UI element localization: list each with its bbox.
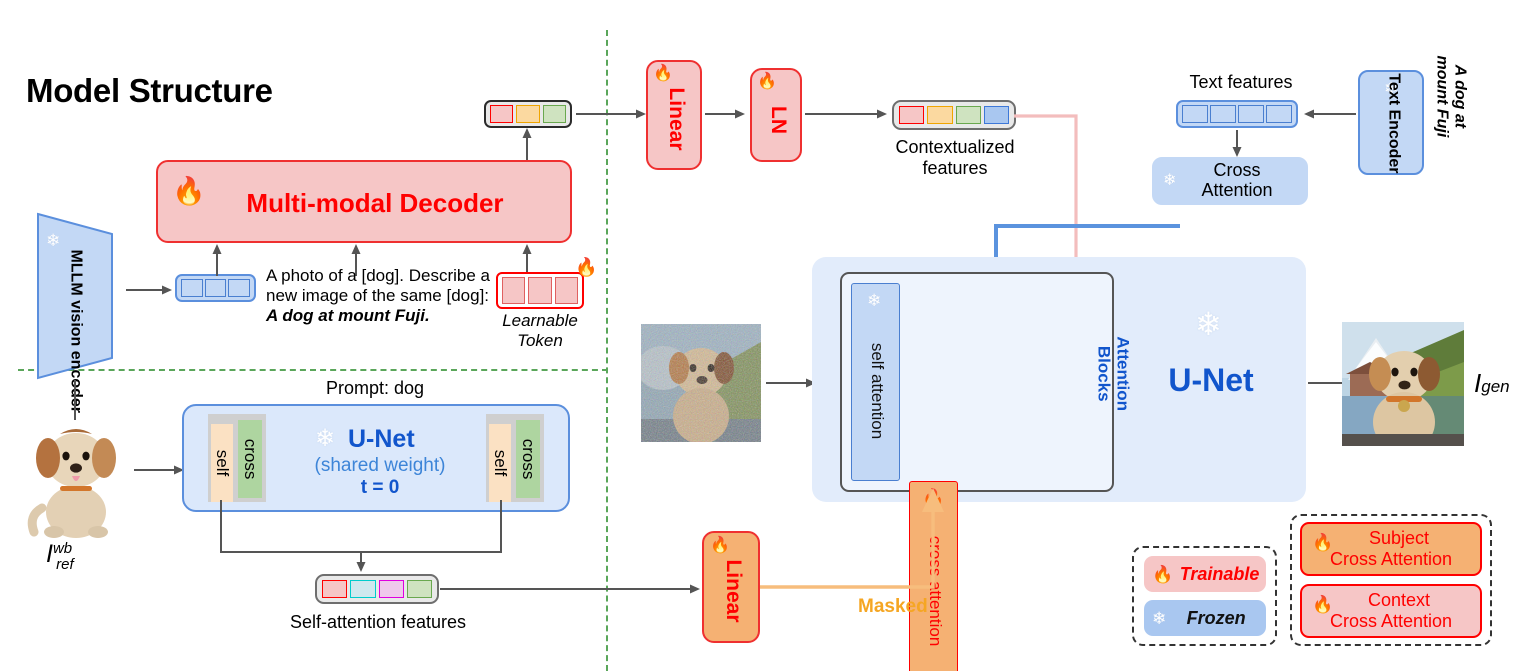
cross-label: cross	[518, 430, 538, 488]
token-cell	[379, 580, 404, 598]
learnable-token-strip	[496, 272, 584, 309]
selfattn-collector-path	[218, 500, 508, 567]
unet-ref-right-cross[interactable]: cross	[516, 420, 540, 498]
multimodal-decoder-label: Multi-modal Decoder	[158, 188, 570, 219]
text-feature-strip	[1176, 100, 1298, 128]
encoder-to-tokens-arrow	[126, 284, 174, 296]
contextualized-caption-line-2: features	[884, 158, 1026, 179]
token-cell	[205, 279, 227, 297]
snowflake-icon: ❄	[1195, 305, 1222, 343]
unet-ref-left-self[interactable]: self	[211, 424, 233, 502]
legend-subject-pill: 🔥 Subject Cross Attention	[1300, 522, 1482, 576]
multimodal-decoder[interactable]: 🔥 Multi-modal Decoder	[156, 160, 572, 243]
outtokens-to-linear-arrow	[576, 108, 648, 120]
self-attention-features-caption: Self-attention features	[262, 612, 494, 633]
generated-image	[1342, 322, 1464, 446]
token-cell	[555, 277, 578, 304]
ref-caption-sup: wb	[53, 540, 72, 557]
ref-caption-main: I	[46, 540, 53, 568]
contextualized-caption-line-1: Contextualized	[884, 137, 1026, 158]
snowflake-icon: ❄	[867, 292, 881, 309]
unet-ref-prompt-label: Prompt: dog	[180, 378, 570, 399]
page-title: Model Structure	[26, 72, 273, 110]
generated-image-caption: Igen	[1474, 368, 1510, 399]
token-cell	[490, 105, 513, 123]
mllm-vision-encoder[interactable]: ❄ MLLM vision encoder	[36, 212, 114, 380]
ln-top-label: LN	[766, 77, 790, 163]
linear-to-ln-arrow	[705, 108, 747, 120]
legend-frozen-label: Frozen	[1166, 608, 1266, 629]
diagram-canvas: Model Structure ❄ MLLM vision encoder 🔥 …	[0, 0, 1530, 671]
token-cell	[984, 106, 1009, 124]
mllm-vision-encoder-label: MLLM vision encoder	[66, 249, 85, 345]
unet-ref-sub-2: t = 0	[280, 477, 480, 499]
snowflake-icon: ❄	[315, 424, 335, 453]
linear-block-top[interactable]: 🔥 Linear	[646, 60, 702, 170]
fire-icon: 🔥	[1312, 596, 1333, 613]
linear-bottom-label: Linear	[721, 540, 745, 642]
token-cell	[516, 105, 539, 123]
encoder-to-textfeatures-arrow	[1302, 108, 1356, 120]
decoder-to-outtokens-arrow	[521, 128, 533, 160]
vertical-divider	[606, 30, 608, 671]
legend-trainable-label: Trainable	[1173, 564, 1266, 585]
ln-block-top[interactable]: 🔥 LN	[750, 68, 802, 162]
linear-top-label: Linear	[664, 70, 688, 168]
decoder-output-token-strip	[484, 100, 572, 128]
ref-to-encoder-line	[74, 380, 76, 420]
unet-ref-sub-1: (shared weight)	[280, 455, 480, 477]
selffeatures-to-linear-arrow	[440, 583, 702, 595]
snowflake-icon: ❄	[1163, 173, 1176, 189]
cross-attention-label: Cross Attention	[1187, 161, 1272, 201]
token-cell	[322, 580, 347, 598]
noisy-to-unet-arrow	[766, 377, 818, 389]
token-cell	[1238, 105, 1264, 123]
text-features-caption: Text features	[1174, 72, 1308, 93]
attention-column-label: self attention	[867, 312, 887, 470]
token-cell	[543, 105, 566, 123]
learnable-token-label-2: Token	[496, 331, 584, 351]
prompt-line-3: A dog at mount Fuji.	[266, 306, 496, 326]
ln-to-contextualized-arrow	[805, 108, 889, 120]
token-cell	[407, 580, 432, 598]
ref-caption-sub: ref	[56, 556, 74, 573]
prompt-text: A photo of a [dog]. Describe a new image…	[266, 266, 496, 326]
fire-icon: 🔥	[1152, 566, 1173, 583]
reference-image-caption: Iwbref	[46, 540, 90, 569]
text-encoder-label: Text Encoder	[1384, 71, 1403, 175]
text-encoder-block[interactable]: ❄ Text Encoder	[1358, 70, 1424, 175]
fire-icon: 🔥	[575, 258, 597, 276]
token-cell	[1266, 105, 1292, 123]
legend-frozen-pill: ❄ Frozen	[1144, 600, 1266, 636]
text-encoder-side-prompt: A dog at mount Fuji	[1432, 46, 1469, 146]
token-cell	[899, 106, 924, 124]
self-attention-feature-strip	[315, 574, 439, 604]
contextualized-feature-strip	[892, 100, 1016, 130]
attention-blocks-label-line-1: Attention	[1113, 319, 1132, 429]
snowflake-icon: ❄	[1152, 610, 1166, 627]
snowflake-icon: ❄	[46, 232, 60, 249]
legend-trainable-pill: 🔥 Trainable	[1144, 556, 1266, 592]
noisy-input-image	[641, 324, 761, 442]
cross-attention-label-line-2: Attention	[1201, 181, 1272, 201]
cross-label: cross	[240, 430, 260, 488]
legend-context-line-1: Context	[1318, 590, 1480, 611]
attention-blocks-label: Attention Blocks	[1094, 319, 1131, 429]
token-cell	[228, 279, 250, 297]
contextualized-caption: Contextualized features	[884, 137, 1026, 179]
cross-attention-label-line-1: Cross	[1201, 161, 1272, 181]
legend-subject-line-1: Subject	[1318, 528, 1480, 549]
tokens-to-decoder-arrow	[211, 244, 223, 276]
token-cell	[927, 106, 952, 124]
prompt-line-2: new image of the same [dog]:	[266, 286, 496, 306]
attention-blocks-label-line-2: Blocks	[1094, 319, 1113, 429]
cross-attention-block[interactable]: ❄ Cross Attention	[1152, 157, 1308, 205]
generated-caption-sub: gen	[1481, 377, 1509, 396]
side-prompt-line-1: A dog at	[1450, 46, 1468, 146]
legend-context-pill: 🔥 Context Cross Attention	[1300, 584, 1482, 638]
textfeatures-to-crossattn-arrow	[1231, 130, 1243, 158]
unet-ref-label: U-Net	[348, 425, 415, 454]
ref-to-unetref-arrow	[134, 464, 186, 476]
side-prompt-line-2: mount Fuji	[1432, 46, 1450, 146]
token-cell	[1182, 105, 1208, 123]
token-cell	[181, 279, 203, 297]
masked-route	[760, 488, 950, 603]
linear-block-bottom[interactable]: 🔥 Linear	[702, 531, 760, 643]
attention-column-self-attention[interactable]: ❄ self attention	[851, 283, 900, 481]
token-cell	[1210, 105, 1236, 123]
unet-ref-right-self[interactable]: self	[489, 424, 511, 502]
token-cell	[502, 277, 525, 304]
reference-image	[20, 420, 132, 538]
token-cell	[956, 106, 981, 124]
learnable-token-group: Learnable Token	[496, 272, 584, 351]
unet-ref-left-cross[interactable]: cross	[238, 420, 262, 498]
image-token-strip	[175, 274, 256, 302]
self-label: self	[490, 434, 510, 492]
unet-main-label: U-Net	[1146, 362, 1276, 399]
token-cell	[350, 580, 375, 598]
prompt-line-1: A photo of a [dog]. Describe a	[266, 266, 496, 286]
self-label: self	[212, 434, 232, 492]
masked-label: Masked	[858, 596, 928, 618]
token-cell	[528, 277, 551, 304]
fire-icon: 🔥	[1312, 534, 1333, 551]
learnable-token-label-1: Learnable	[496, 311, 584, 331]
